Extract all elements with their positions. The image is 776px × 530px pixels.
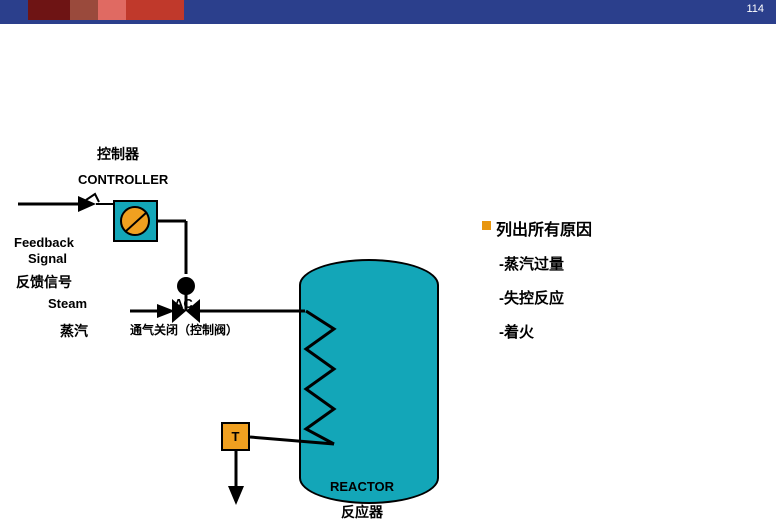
top-banner: 114 (0, 0, 776, 24)
cause-item-1: -蒸汽过量 (499, 253, 592, 274)
reactor-vessel (299, 259, 439, 504)
cause-list: 列出所有原因 -蒸汽过量 -失控反应 -着火 (482, 216, 592, 355)
valve-label-cn: 通气关闭（控制阀） (130, 321, 238, 338)
valve-label-en: AC (174, 296, 193, 311)
temperature-sensor-box: T (221, 422, 250, 451)
controller-label-cn: 控制器 (97, 144, 139, 164)
cause-item-3: -着火 (499, 321, 592, 342)
reactor-label-en: REACTOR (330, 479, 394, 494)
steam-label-cn: 蒸汽 (60, 321, 88, 341)
cause-list-heading: 列出所有原因 (482, 216, 592, 240)
feedback-label-line2: Signal (28, 251, 67, 266)
process-diagram: T 控制器 CONTROLLER Feedback Signal 反馈信号 (0, 24, 776, 530)
reactor-label-cn: 反应器 (341, 502, 383, 522)
feedback-label-line1: Feedback (14, 235, 74, 250)
controller-needle-icon (122, 208, 150, 236)
banner-band-mid (70, 0, 98, 20)
cause-item-2: -失控反应 (499, 287, 592, 308)
slide-number: 114 (746, 3, 764, 15)
banner-band-red (126, 0, 184, 20)
cause-list-heading-text: 列出所有原因 (496, 222, 592, 239)
banner-band-dark (28, 0, 70, 20)
feedback-label-cn: 反馈信号 (16, 272, 72, 292)
banner-band-light (98, 0, 126, 20)
steam-label-en: Steam (48, 296, 87, 311)
bullet-square-icon (482, 221, 491, 230)
controller-label-en: CONTROLLER (78, 172, 168, 187)
